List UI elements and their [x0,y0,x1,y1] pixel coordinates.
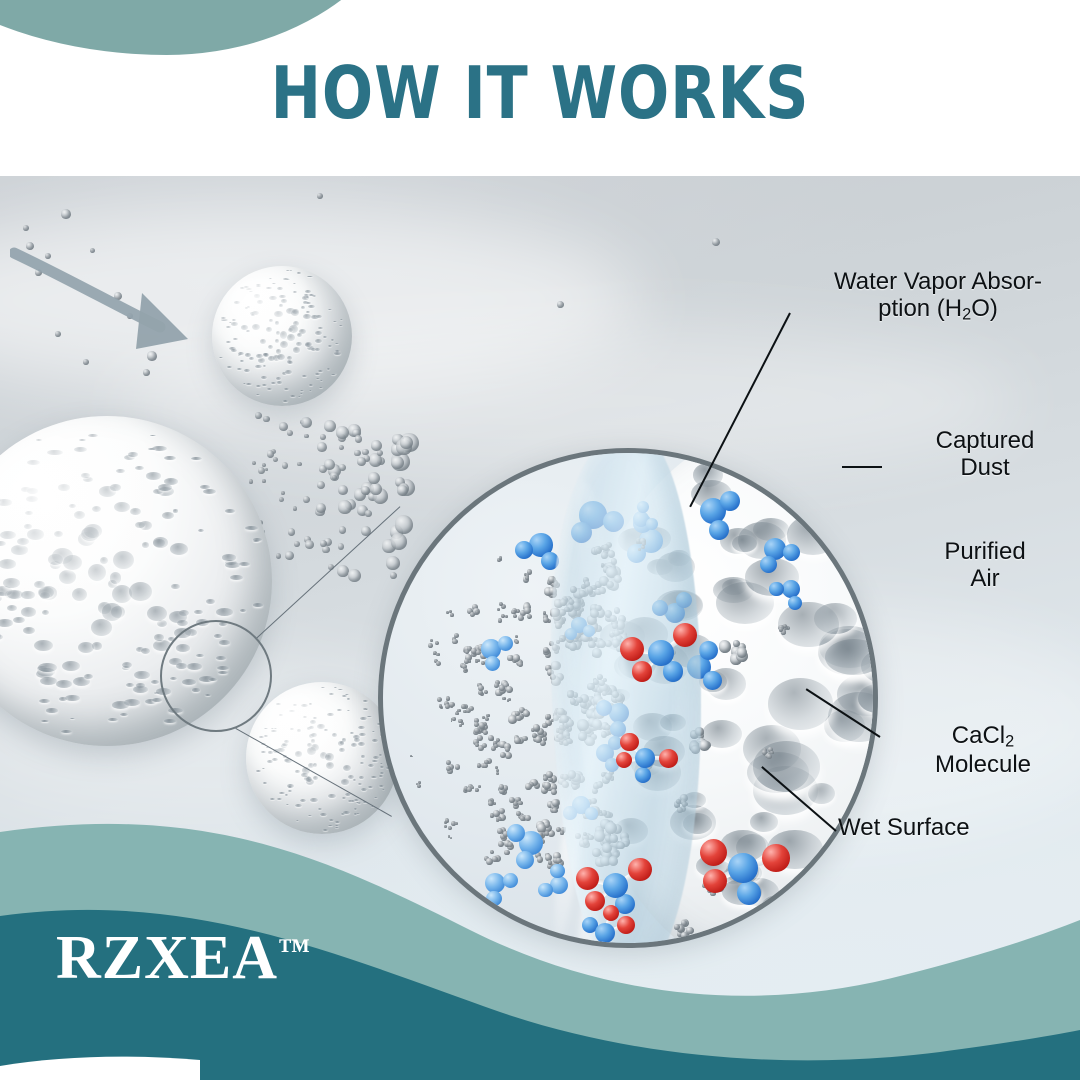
page-title: HOW IT WORKS [38,57,1042,129]
label-purified-air: Purified Air [900,538,1070,592]
magnifier-connector-line [256,506,401,639]
label-water-vapor: Water Vapor Absor- ption (H2O) [796,268,1080,324]
zoom-source-region [160,620,272,732]
infographic-poster: Water Vapor Absor- ption (H2O) Captured … [0,0,1080,1080]
corner-accent-shape [0,0,420,55]
airflow-arrow-icon [10,231,240,371]
brand-wordmark: RZXEA™ [56,923,310,994]
porous-bead-upper [212,266,352,406]
leader-line-captured-dust [842,466,882,468]
footer-waves [0,740,1080,1080]
label-captured-dust: Captured Dust [890,427,1080,481]
